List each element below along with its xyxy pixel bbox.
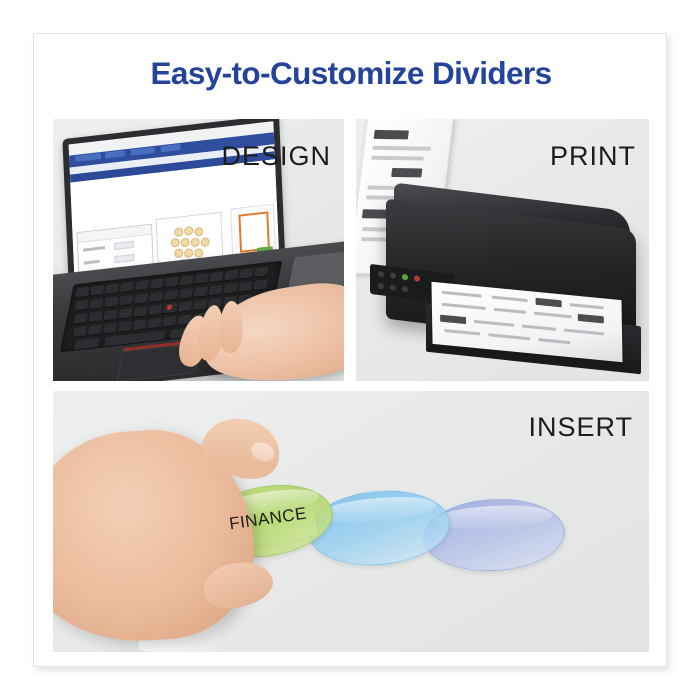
panel-insert: FINANCE INSERT <box>53 391 649 652</box>
product-card: Easy-to-Customize Dividers <box>33 33 667 667</box>
page-title: Easy-to-Customize Dividers <box>34 55 668 92</box>
dialog-titlebar <box>77 225 151 243</box>
panel-label-design: DESIGN <box>221 141 331 172</box>
panel-design: DESIGN <box>53 119 344 381</box>
tab-gloss <box>434 503 553 533</box>
printer-stop-icon[interactable] <box>414 275 420 282</box>
panel-print: PRINT <box>356 119 649 381</box>
printer-power-icon[interactable] <box>402 274 408 281</box>
panel-label-insert: INSERT <box>528 412 633 443</box>
field-label <box>84 260 100 265</box>
field-label <box>83 246 105 251</box>
dialog-input[interactable] <box>114 241 134 250</box>
tab-gloss <box>318 493 437 528</box>
panel-label-print: PRINT <box>550 141 636 172</box>
dialog-input[interactable] <box>114 254 134 263</box>
poster-canvas: Easy-to-Customize Dividers <box>0 0 700 700</box>
